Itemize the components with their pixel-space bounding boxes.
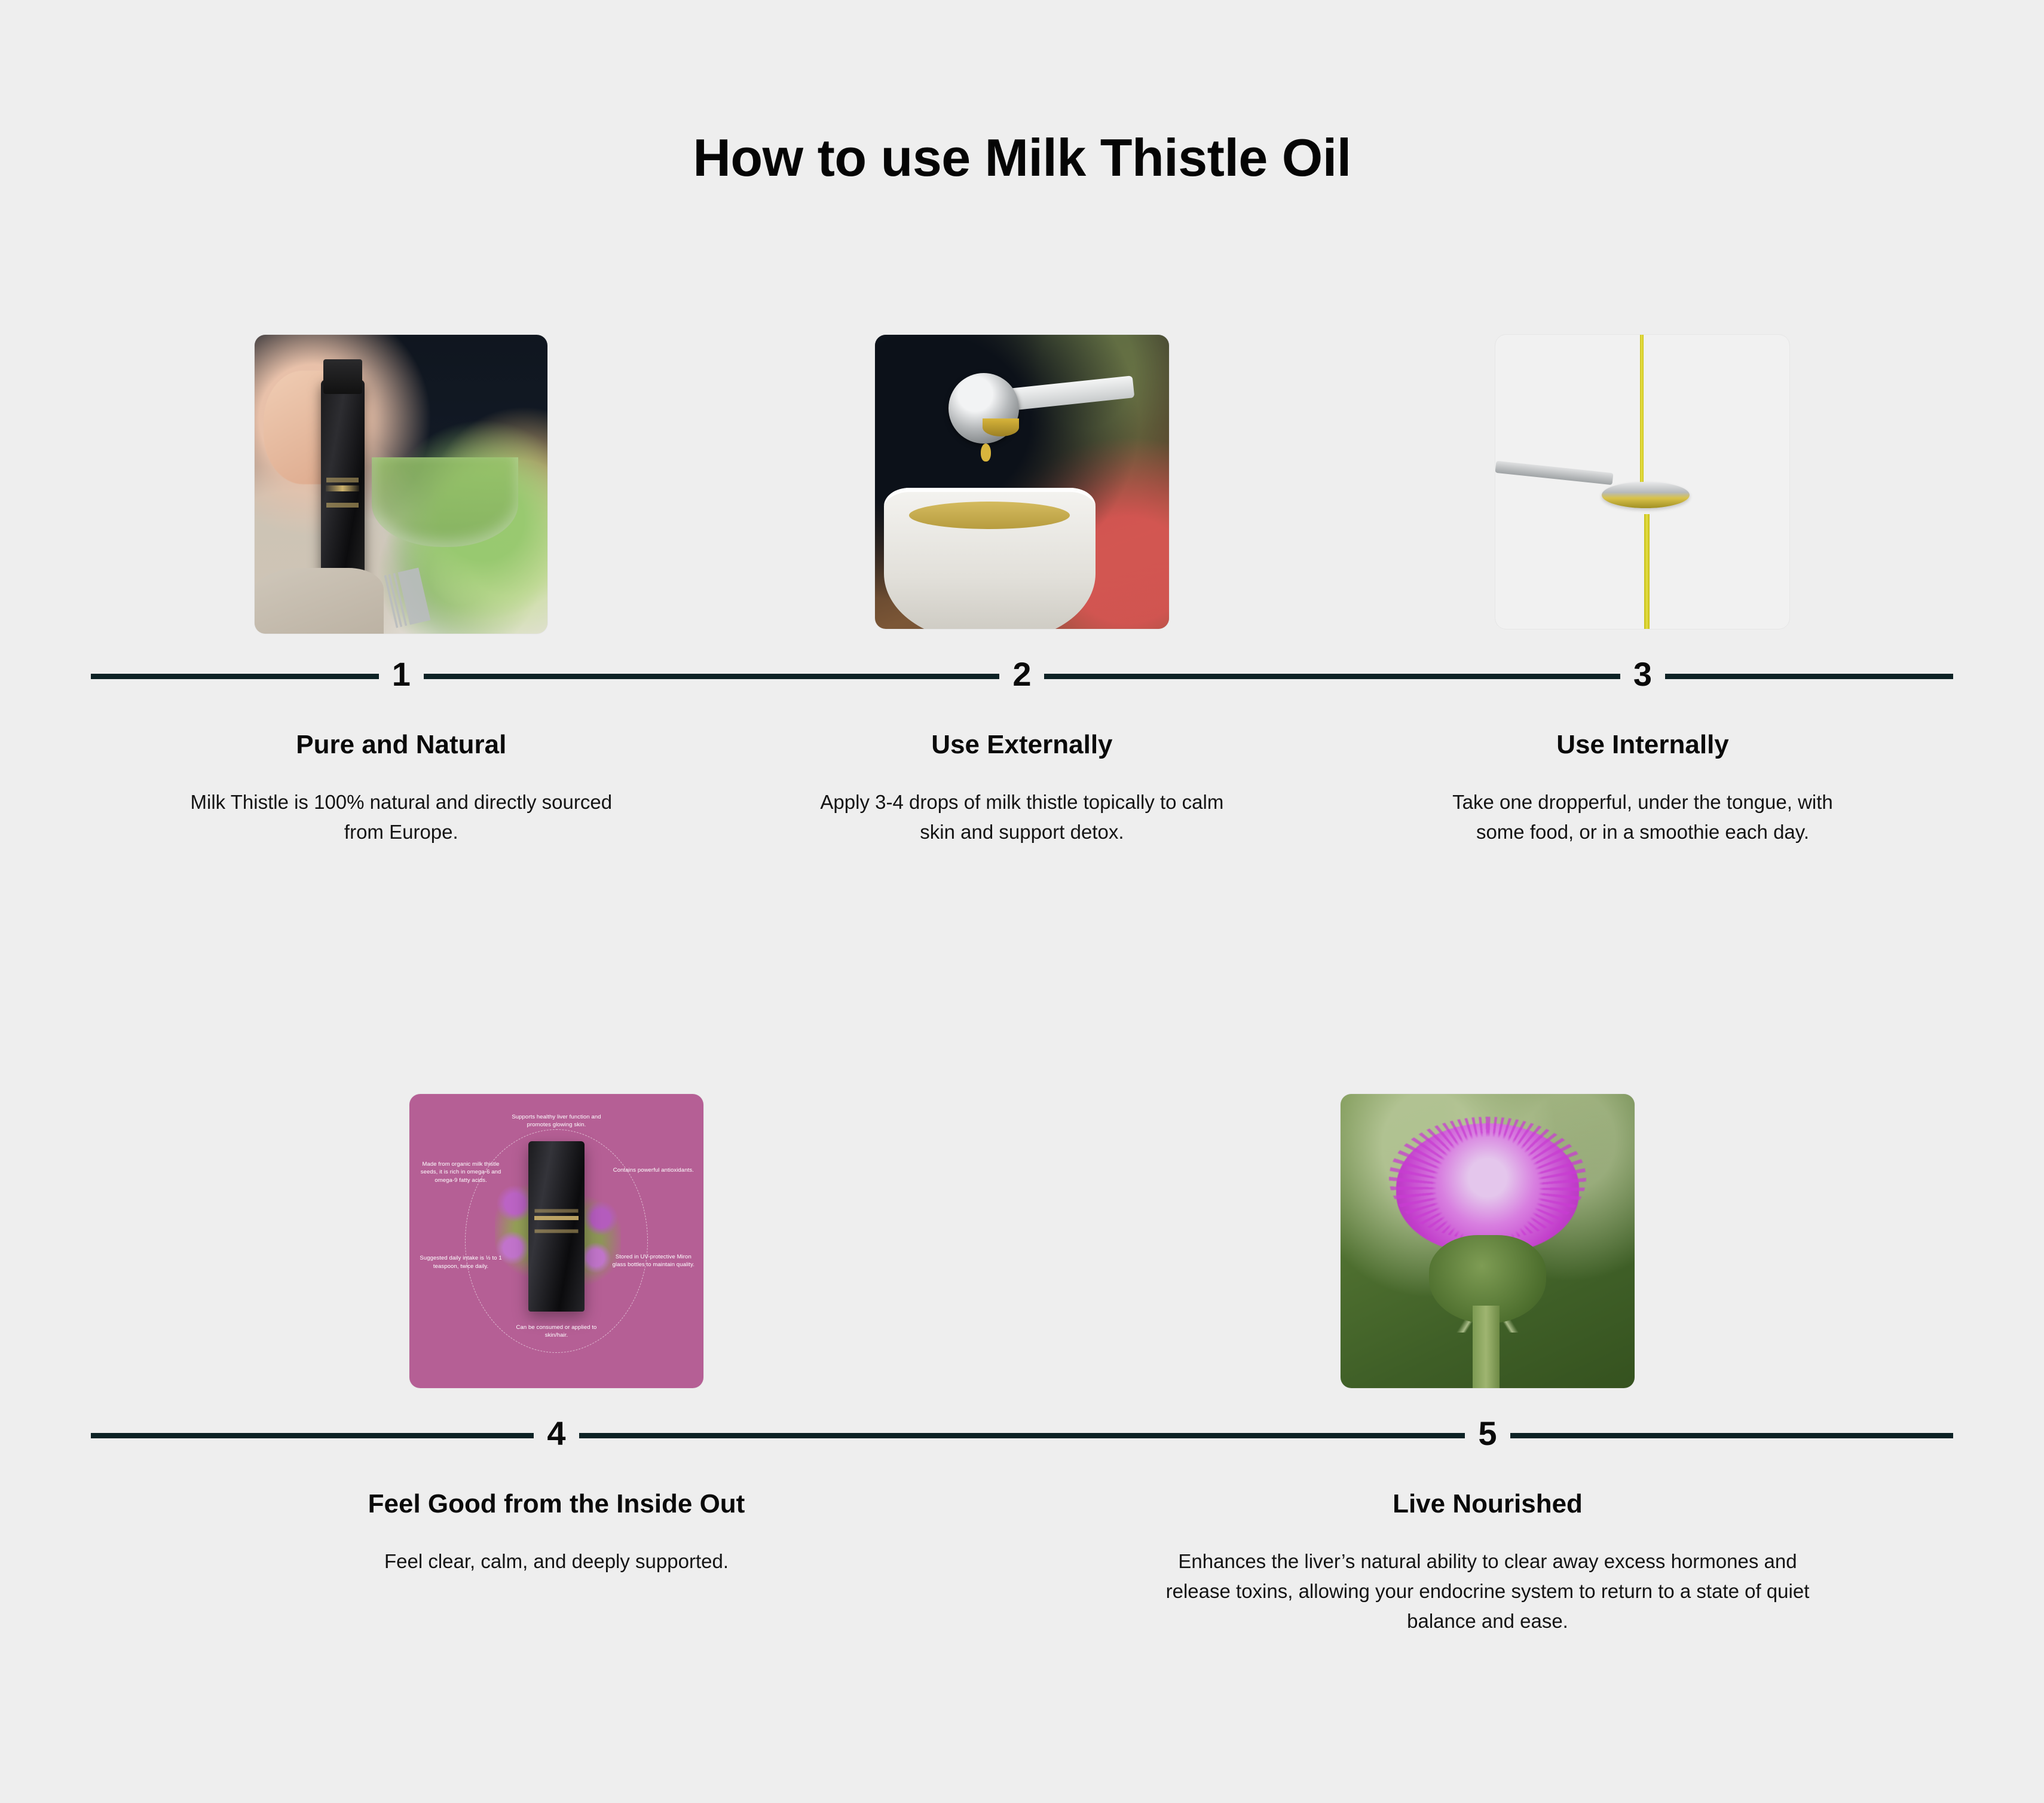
step-2-description: Apply 3-4 drops of milk thistle topicall… (810, 787, 1234, 847)
divider-rule-right (1665, 674, 1953, 679)
divider-rule-left (1022, 1433, 1465, 1438)
callout-lower-right: Stored in UV-protective Miron glass bott… (612, 1253, 694, 1269)
step-4-description: Feel clear, calm, and deeply supported. (384, 1547, 729, 1576)
callout-upper-left: Made from organic milk thistle seeds, it… (420, 1160, 502, 1184)
step-3-image-wrap (1332, 335, 1953, 646)
spoon-oil-photo (1495, 335, 1789, 629)
napkin-shape (255, 568, 384, 634)
step-2-image[interactable] (875, 335, 1169, 629)
step-2-divider: 2 (712, 655, 1333, 697)
step-4: Supports healthy liver function and prom… (91, 1094, 1022, 1636)
steps-row-top: 1 Pure and Natural Milk Thistle is 100% … (91, 335, 1953, 847)
callout-bottom: Can be consumed or applied to skin/hair. (506, 1324, 606, 1340)
step-1-image-wrap (91, 335, 712, 646)
step-1-image[interactable] (255, 335, 547, 634)
spoon-handle-shape (1009, 375, 1134, 410)
oil-drop-shape (981, 444, 991, 462)
step-5-number: 5 (1465, 1417, 1510, 1450)
spoon-stem-shape (1495, 461, 1613, 485)
salad-bowl-shape (372, 457, 518, 547)
step-4-divider: 4 (91, 1414, 1022, 1456)
measuring-spoon-shape (948, 373, 1019, 444)
callout-upper-right: Contains powerful antioxidants. (612, 1166, 694, 1174)
fork-icon (384, 568, 430, 628)
divider-rule-right (579, 1433, 1022, 1438)
step-3-title: Use Internally (1556, 729, 1729, 761)
callout-lower-left: Suggested daily intake is ½ to 1 teaspoo… (420, 1254, 502, 1270)
infographic-page: How to use Milk Thistle Oil 1 (0, 0, 2044, 1803)
step-1-number: 1 (379, 658, 424, 691)
product-bottle-shape (528, 1141, 584, 1312)
step-1-divider: 1 (91, 655, 712, 697)
step-2: 2 Use Externally Apply 3-4 drops of milk… (712, 335, 1333, 847)
step-2-image-wrap (712, 335, 1333, 646)
step-4-number: 4 (534, 1417, 579, 1450)
spoon-head-shape (1602, 482, 1690, 508)
step-4-image[interactable]: Supports healthy liver function and prom… (409, 1094, 703, 1388)
salad-bottle-photo (255, 335, 547, 634)
step-2-title: Use Externally (931, 729, 1112, 761)
step-5-image[interactable] (1341, 1094, 1635, 1388)
step-2-number: 2 (999, 658, 1044, 691)
step-5: 5 Live Nourished Enhances the liver’s na… (1022, 1094, 1953, 1636)
step-5-divider: 5 (1022, 1414, 1953, 1456)
page-title: How to use Milk Thistle Oil (0, 130, 2044, 185)
divider-rule-left (91, 674, 379, 679)
spoon-bowl-photo (875, 335, 1169, 629)
oil-stream-lower (1644, 514, 1650, 629)
divider-rule-right (1044, 674, 1332, 679)
thistle-flower-photo (1341, 1094, 1635, 1388)
thistle-bloom-shape (1396, 1123, 1578, 1252)
divider-rule-right (1510, 1433, 1953, 1438)
step-3: 3 Use Internally Take one dropperful, un… (1332, 335, 1953, 847)
divider-rule-left (1332, 674, 1620, 679)
benefits-infographic: Supports healthy liver function and prom… (409, 1094, 703, 1388)
step-1: 1 Pure and Natural Milk Thistle is 100% … (91, 335, 712, 847)
step-4-title: Feel Good from the Inside Out (368, 1489, 745, 1520)
step-5-image-wrap (1022, 1094, 1953, 1405)
oil-stream-upper (1640, 335, 1644, 491)
step-1-description: Milk Thistle is 100% natural and directl… (189, 787, 613, 847)
divider-rule-left (91, 1433, 534, 1438)
oil-bottle-shape (321, 380, 365, 583)
step-3-number: 3 (1620, 658, 1665, 691)
thistle-stem-shape (1473, 1306, 1499, 1388)
divider-rule-right (424, 674, 712, 679)
divider-rule-left (712, 674, 1000, 679)
step-4-image-wrap: Supports healthy liver function and prom… (91, 1094, 1022, 1405)
step-5-description: Enhances the liver’s natural ability to … (1162, 1547, 1813, 1636)
white-bowl-shape (884, 488, 1096, 629)
step-1-title: Pure and Natural (296, 729, 506, 761)
step-3-divider: 3 (1332, 655, 1953, 697)
step-3-description: Take one dropperful, under the tongue, w… (1430, 787, 1855, 847)
step-5-title: Live Nourished (1393, 1489, 1583, 1520)
callout-top: Supports healthy liver function and prom… (509, 1113, 603, 1129)
steps-row-bottom: Supports healthy liver function and prom… (91, 1094, 1953, 1636)
step-3-image[interactable] (1495, 335, 1789, 629)
